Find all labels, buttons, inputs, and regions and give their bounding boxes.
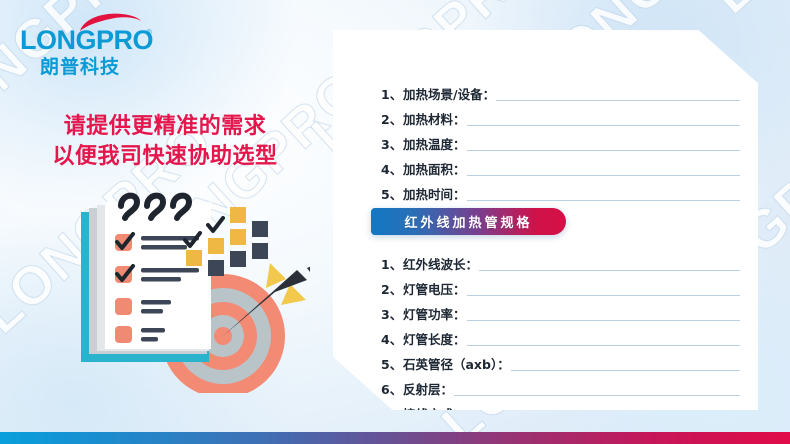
headline-line-2: 以便我司快速协助选型 [0,142,330,172]
form-row: 2、灯管电压： [381,273,740,298]
form-row-text: 加热面积： [403,162,466,177]
lamp-spec-list: 1、红外线波长：2、灯管电压：3、灯管功率：4、灯管长度：5、石英管径（axb）… [381,248,740,444]
form-row-number: 1、 [381,87,403,103]
form-row-input-line[interactable] [479,270,740,271]
form-row-input-line[interactable] [496,100,740,101]
checklist-target-illustration [75,188,310,393]
form-row-text: 灯管长度： [403,332,466,347]
form-row-text: 加热时间： [403,187,466,202]
form-row-input-line[interactable] [467,320,740,321]
form-row-input-line[interactable] [467,345,740,346]
form-row-input-line[interactable] [467,125,740,126]
form-row: 2、加热材料： [381,103,740,128]
form-row-number: 2、 [381,282,403,298]
form-row-label: 6、反射层： [381,382,453,398]
form-row-input-line[interactable] [467,420,740,421]
form-row: 5、加热时间： [381,178,740,203]
form-row-label: 5、加热时间： [381,187,466,203]
form-row-number: 3、 [381,137,403,153]
form-row: 6、反射层： [381,373,740,398]
form-row-number: 7、 [381,407,403,423]
form-row-label: 3、加热温度： [381,137,466,153]
logo-chinese-name: 朗普科技 [40,52,120,79]
page-title: 请提供更精准的需求 以便我司快速协助选型 [0,112,330,172]
form-row-label: 1、红外线波长： [381,257,478,273]
form-row: 4、加热面积： [381,153,740,178]
form-row-number: 3、 [381,307,403,323]
form-row: 5、石英管径（axb）： [381,348,740,373]
spec-badge-label: 红外线加热管规格 [404,212,532,231]
form-row-text: 加热材料： [403,112,466,127]
form-row: 7、接线方式： [381,398,740,423]
watermark-text: LONGPRO [700,0,790,26]
form-row-text: 反射层： [403,382,453,397]
form-row-label: 2、加热材料： [381,112,466,128]
form-row-input-line[interactable] [454,395,740,396]
form-row-input-line[interactable] [511,370,740,371]
form-row-number: 2、 [381,112,403,128]
form-row-input-line[interactable] [467,175,740,176]
longpro-logo: LONGPRO ® 朗普科技 [18,12,168,70]
form-row-input-line[interactable] [467,200,740,201]
form-row-label: 1、加热场景/设备： [381,87,495,103]
form-row-text: 石英管径（axb）： [403,357,510,372]
form-row: 3、加热温度： [381,128,740,153]
form-row-text: 灯管电压： [403,282,466,297]
form-row-number: 4、 [381,162,403,178]
form-row-label: 7、接线方式： [381,407,466,423]
form-row-text: 灯管功率： [403,307,466,322]
form-row: 3、灯管功率： [381,298,740,323]
footer-gradient-bar [0,432,790,444]
form-row-number: 4、 [381,332,403,348]
form-row-text: 红外线波长： [403,257,478,272]
form-row-text: 加热场景/设备： [403,87,495,102]
form-row-number: 1、 [381,257,403,273]
form-row-label: 2、灯管电压： [381,282,466,298]
form-row-label: 4、灯管长度： [381,332,466,348]
form-row-text: 加热温度： [403,137,466,152]
logo-registered-mark: ® [146,28,152,37]
form-row-label: 3、灯管功率： [381,307,466,323]
form-row-number: 5、 [381,187,403,203]
form-row-input-line[interactable] [467,295,740,296]
headline-line-1: 请提供更精准的需求 [64,114,267,139]
form-row: 4、灯管长度： [381,323,740,348]
form-row-number: 5、 [381,357,403,373]
heating-requirements-list: 1、加热场景/设备：2、加热材料：3、加热温度：4、加热面积：5、加热时间： [381,78,740,203]
slide-canvas: LONGPROLONGPROLONGPROLONGPROLONGPROLONGP… [0,0,790,444]
form-row: 1、红外线波长： [381,248,740,273]
form-row-text: 接线方式： [403,407,466,422]
requirements-form-card: 1、加热场景/设备：2、加热材料：3、加热温度：4、加热面积：5、加热时间： 红… [333,30,758,410]
form-row-number: 6、 [381,382,403,398]
status-badge: 红外线加热管规格 [371,208,566,235]
form-row-label: 5、石英管径（axb）： [381,357,510,373]
form-row-input-line[interactable] [467,150,740,151]
form-row-label: 4、加热面积： [381,162,466,178]
form-row: 1、加热场景/设备： [381,78,740,103]
